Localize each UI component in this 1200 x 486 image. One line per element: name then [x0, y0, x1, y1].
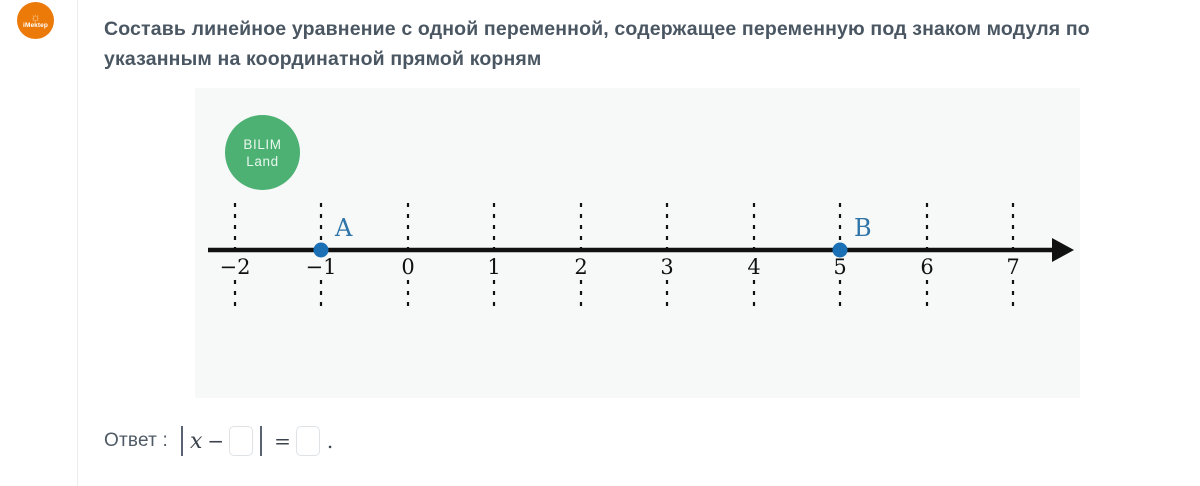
point-label-a: A	[334, 214, 353, 242]
math-equals-sign: =	[274, 429, 291, 453]
abs-bar-close-icon	[260, 426, 262, 456]
tick-label: −1	[306, 255, 337, 279]
tick-label: 6	[920, 255, 933, 279]
tick-label: 7	[1006, 255, 1019, 279]
tick-label: 5	[833, 255, 846, 279]
tick-label: 3	[660, 255, 673, 279]
watermark-line-2: Land	[246, 153, 278, 170]
tick-label: 2	[574, 255, 587, 279]
answer-input-root[interactable]	[229, 426, 253, 456]
bilim-land-watermark: BILIM Land	[225, 115, 300, 190]
tick-labels: −2 −1 0 1 2 3 4 5 6 7	[220, 255, 1020, 279]
math-variable: x	[190, 429, 202, 454]
point-label-b: B	[854, 214, 872, 242]
tick-label: 1	[487, 255, 500, 279]
axis-arrowhead	[1052, 238, 1074, 262]
answer-input-distance[interactable]	[296, 426, 320, 456]
tick-label: 4	[747, 255, 760, 279]
app-logo[interactable]: ☼ iMektep	[17, 2, 54, 39]
point-marker-a	[314, 243, 329, 258]
tick-label: 0	[401, 255, 414, 279]
number-line-svg: −2 −1 0 1 2 3 4 5 6 7 A B	[195, 88, 1080, 398]
rail-divider	[77, 0, 78, 486]
watermark-line-1: BILIM	[243, 136, 281, 153]
gridlines-lower	[235, 280, 1013, 310]
abs-bar-open-icon	[181, 426, 183, 456]
point-marker-b	[833, 243, 848, 258]
answer-label: Ответ :	[104, 430, 168, 452]
tick-label: −2	[220, 255, 251, 279]
number-line-figure: −2 −1 0 1 2 3 4 5 6 7 A B BILIM Land	[195, 88, 1080, 398]
math-minus-operator: −	[207, 429, 224, 453]
math-period: .	[327, 429, 333, 453]
sun-gear-icon: ☼	[30, 12, 41, 22]
answer-row: Ответ : x − = .	[104, 418, 333, 464]
app-logo-label: iMektep	[23, 22, 48, 30]
page-title: Составь линейное уравнение с одной перем…	[104, 14, 1164, 74]
left-rail: ☼ iMektep	[0, 0, 77, 486]
